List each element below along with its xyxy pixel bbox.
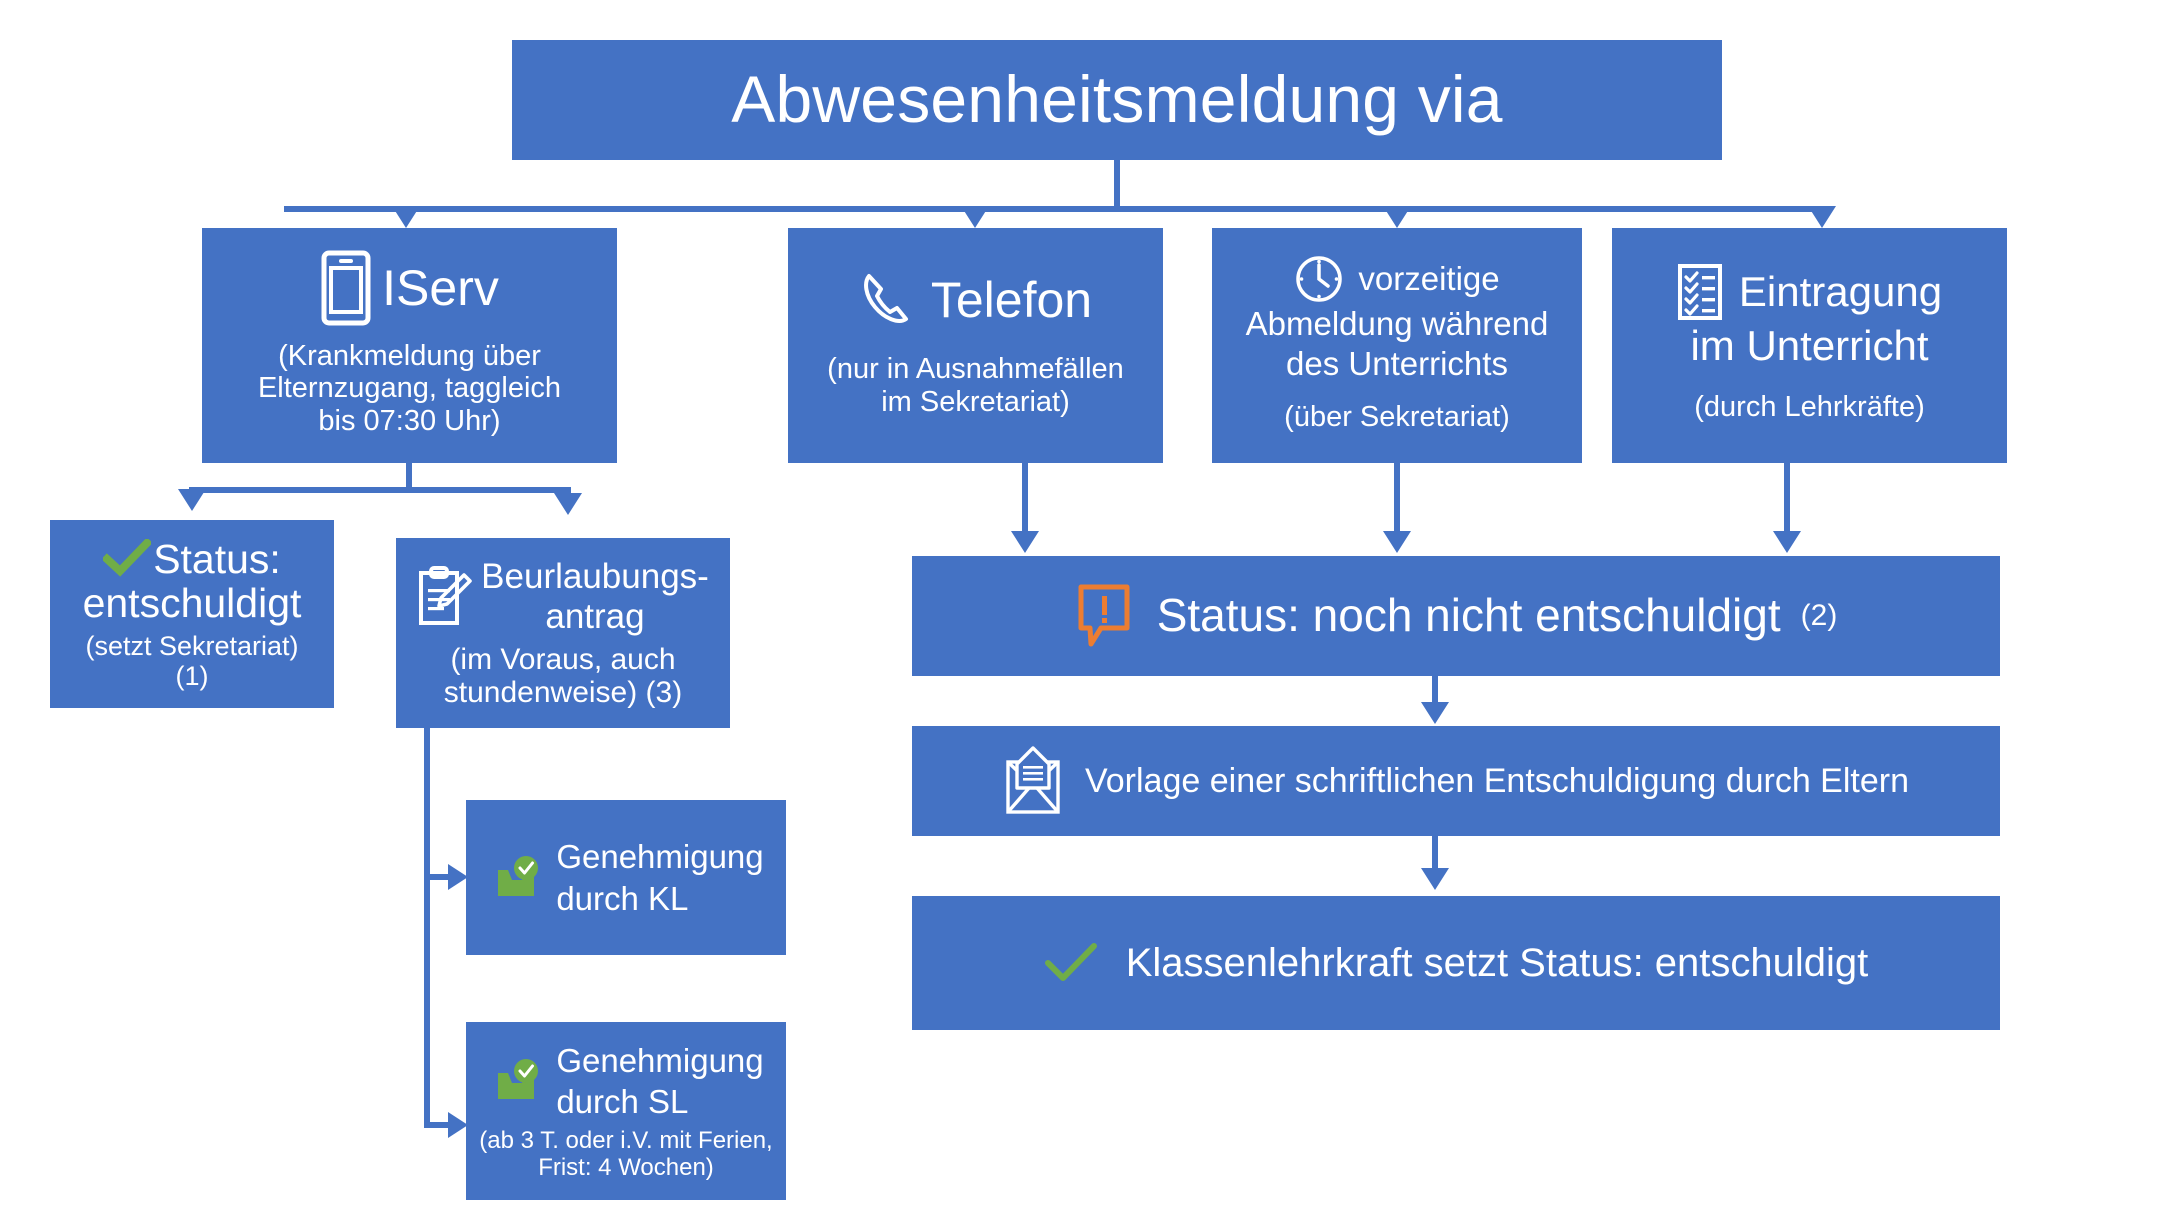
eintragung-label-line2: im Unterricht [1690,321,1928,371]
connector-vorlage-to-final [1432,836,1438,872]
node-genehmigung-sl[interactable]: Genehmigung durch SL (ab 3 T. oder i.V. … [466,1022,786,1200]
iserv-label: IServ [382,260,499,316]
envelope-letter-icon [1003,744,1063,818]
check-icon [103,539,151,579]
vorlage-label: Vorlage einer schriftlichen Entschuldigu… [1085,762,1909,800]
genSL-sub-line2: Frist: 4 Wochen) [479,1154,772,1182]
arrowhead-beurl [554,493,582,515]
telefon-sub-line2: im Sekretariat) [827,386,1124,418]
arrowhead-telefon-down [1011,531,1039,553]
arrowhead-iserv [392,206,420,228]
arrowhead-final [1421,868,1449,890]
connector-title-stem [1114,160,1120,212]
final-label: Klassenlehrkraft setzt Status: entschuld… [1126,941,1869,986]
title-text: Abwesenheitsmeldung via [731,63,1502,137]
telefon-sub-line1: (nur in Ausnahmefällen [827,353,1124,385]
status2-label: Status: noch nicht entschuldigt [1157,590,1781,642]
arrowhead-eintragung-down [1773,531,1801,553]
check-icon [1044,942,1098,984]
beurl-label-line1: Beurlaubungs- [481,557,709,597]
arrowhead-genKL [448,864,468,890]
telefon-sub: (nur in Ausnahmefällen im Sekretariat) [827,353,1124,418]
node-status-entschuldigt[interactable]: Status: entschuldigt (setzt Sekretariat)… [50,520,334,708]
arrowhead-vorlage [1421,702,1449,724]
clock-icon [1294,254,1344,304]
connector-beurl-spine [424,728,430,1128]
checklist-icon [1677,263,1723,321]
arrowhead-genSL [448,1112,468,1138]
status1-sub-line1: (setzt Sekretariat) [85,631,298,661]
vorzeitig-label-line2: Abmeldung während [1246,304,1549,344]
connector-telefon-down [1022,463,1028,535]
vorzeitig-label-line3: des Unterrichts [1286,344,1508,384]
node-genehmigung-kl[interactable]: Genehmigung durch KL [466,800,786,955]
node-title[interactable]: Abwesenheitsmeldung via [512,40,1722,160]
alert-bubble-icon [1075,582,1137,650]
node-eintragung[interactable]: Eintragung im Unterricht (durch Lehrkräf… [1612,228,2007,463]
arrowhead-vorzeitig [1383,206,1411,228]
arrowhead-status1 [178,489,206,511]
genSL-label-line1: Genehmigung [556,1040,763,1081]
connector-eintragung-down [1784,463,1790,535]
beurl-sub-line2: stundenweise) (3) [444,676,682,709]
node-telefon[interactable]: Telefon (nur in Ausnahmefällen im Sekret… [788,228,1163,463]
status2-note: (2) [1801,599,1838,633]
node-vorzeitig[interactable]: vorzeitige Abmeldung während des Unterri… [1212,228,1582,463]
inbox-check-icon [488,854,542,902]
connector-title-bus [284,206,1822,212]
vorzeitig-sub: (über Sekretariat) [1284,401,1510,433]
genKL-label-line1: Genehmigung [556,836,763,877]
arrowhead-vorzeitig-down [1383,531,1411,553]
status1-sub-line2: (1) [85,661,298,691]
arrowhead-telefon [961,206,989,228]
beurl-sub-line1: (im Voraus, auch [444,643,682,676]
arrowhead-eintragung [1808,206,1836,228]
node-vorlage-entschuldigung[interactable]: Vorlage einer schriftlichen Entschuldigu… [912,726,2000,836]
status1-label-line2: entschuldigt [83,581,302,625]
beurl-sub: (im Voraus, auch stundenweise) (3) [444,643,682,709]
beurl-label: Beurlaubungs- antrag [481,557,709,637]
status1-sub: (setzt Sekretariat) (1) [85,631,298,691]
smartphone-icon [320,250,372,326]
eintragung-sub: (durch Lehrkräfte) [1694,391,1925,423]
telefon-label: Telefon [931,272,1092,328]
node-beurlaubungsantrag[interactable]: Beurlaubungs- antrag (im Voraus, auch st… [396,538,730,728]
beurl-label-line2: antrag [481,597,709,637]
vorzeitig-label-line1: vorzeitige [1358,259,1499,299]
connector-iserv-bus [189,487,571,493]
iserv-sub: (Krankmeldung über Elternzugang, tagglei… [258,340,561,437]
node-klassenlehrkraft-setzt-status[interactable]: Klassenlehrkraft setzt Status: entschuld… [912,896,2000,1030]
genSL-sub: (ab 3 T. oder i.V. mit Ferien, Frist: 4 … [479,1127,772,1182]
genKL-label-line2: durch KL [556,878,763,919]
genSL-label: Genehmigung durch SL [556,1040,763,1123]
iserv-sub-line2: Elternzugang, taggleich [258,372,561,404]
genSL-label-line2: durch SL [556,1081,763,1122]
phone-icon [859,269,921,331]
node-status-noch-nicht-entschuldigt[interactable]: Status: noch nicht entschuldigt (2) [912,556,2000,676]
genSL-sub-line1: (ab 3 T. oder i.V. mit Ferien, [479,1127,772,1155]
node-iserv[interactable]: IServ (Krankmeldung über Elternzugang, t… [202,228,617,463]
iserv-sub-line1: (Krankmeldung über [258,340,561,372]
iserv-sub-line3: bis 07:30 Uhr) [258,405,561,437]
connector-vorzeitig-down [1394,463,1400,535]
genKL-label: Genehmigung durch KL [556,836,763,919]
clipboard-pencil-icon [417,565,473,629]
status1-label-line1: Status: [153,537,281,581]
inbox-check-icon [488,1057,542,1105]
eintragung-label-line1: Eintragung [1739,267,1942,317]
